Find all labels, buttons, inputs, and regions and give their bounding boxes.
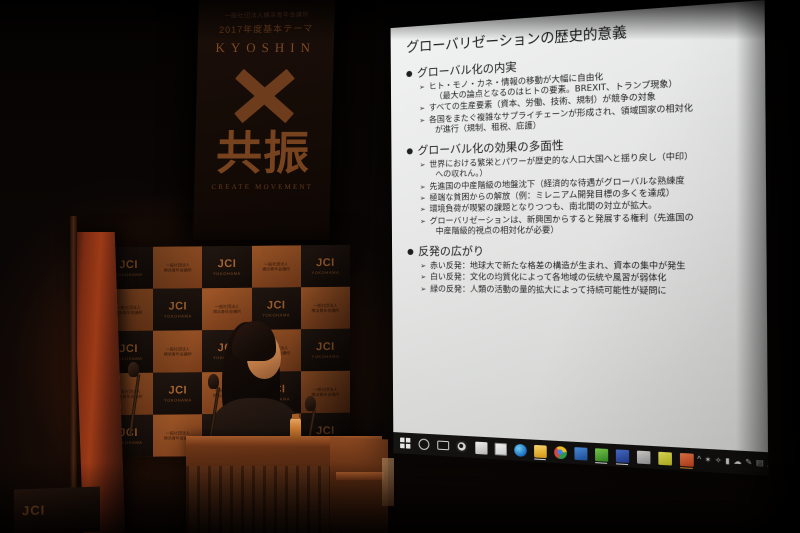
volume-icon[interactable]: ✧ — [715, 457, 722, 465]
windows-start-icon — [400, 437, 411, 449]
network-icon[interactable]: ✶ — [705, 456, 712, 464]
projection-screen: グローバリゼーションの歴史的意義 グローバル化の内実➢ヒト・モノ・カネ・情報の移… — [391, 0, 769, 476]
edge-icon — [514, 443, 527, 456]
jci-organization-text: 横浜青年会議所 — [164, 351, 192, 357]
chrome-icon — [554, 445, 567, 458]
backdrop-cell: JCIYOKOHAMA — [153, 288, 202, 331]
slide-sub-bullet-text: グローバリゼーションは、新興国からすると発展する権利（先進国の中産階級的視点の相… — [430, 211, 752, 237]
jci-logo-text: JCI — [218, 258, 237, 270]
arrow-bullet-icon: ➢ — [419, 82, 425, 93]
jci-organization-text: 横浜青年会議所 — [311, 308, 339, 314]
jci-logo-subtitle: YOKOHAMA — [262, 312, 290, 317]
taskbar-microsoft-store[interactable] — [471, 437, 490, 458]
system-tray[interactable]: ^ ✶ ✧ ▮ ☁ ✎ ▤ A 19:35 2017/09/10 — [697, 454, 768, 473]
store-bag-icon — [475, 441, 487, 454]
arrow-bullet-icon: ➢ — [420, 272, 426, 282]
jci-logo-subtitle: YOKOHAMA — [115, 272, 143, 277]
taskbar-green-app[interactable] — [591, 444, 612, 465]
slide-body: グローバル化の内実➢ヒト・モノ・カネ・情報の移動が大幅に自由化（最大の論点となる… — [406, 45, 752, 297]
taskbar-task-view[interactable] — [433, 435, 452, 455]
bullet-dot-icon — [408, 248, 414, 254]
arrow-bullet-icon: ➢ — [420, 160, 426, 170]
water-bottle — [290, 418, 301, 440]
water-bottle-cap — [292, 414, 299, 419]
slide-section: グローバル化の効果の多面性➢世界における繁栄とパワーが歴史的な人口大国へと揺り戻… — [407, 131, 752, 237]
app-tile-icon — [574, 447, 587, 460]
taskbar-microsoft-edge[interactable] — [510, 439, 530, 460]
slide-sub-bullet: ➢緑の反発：人類の活動の量的拡大によって持続可能性が疑問に — [420, 284, 752, 298]
slide-sub-bullet: ➢グローバリゼーションは、新興国からすると発展する権利（先進国の中産階級的視点の… — [420, 211, 752, 237]
backdrop-cell: JCIYOKOHAMA — [301, 245, 350, 288]
task-view-icon — [437, 440, 449, 450]
taskbar-powerpoint[interactable] — [675, 448, 697, 470]
taskbar-gray-app[interactable] — [632, 446, 653, 468]
podium-plaque — [382, 458, 394, 506]
slide-sub-bullet: ➢赤い反発：地球大で新たな格差の構造が生まれ、資本の集中が発生 — [420, 260, 752, 272]
bullet-dot-icon — [406, 70, 412, 76]
backdrop-cell: 一般社団法人横浜青年会議所 — [153, 246, 202, 289]
arrow-bullet-icon: ➢ — [420, 284, 426, 294]
slide-section-heading-text: グローバル化の内実 — [417, 60, 517, 80]
slide-section: グローバル化の内実➢ヒト・モノ・カネ・情報の移動が大幅に自由化（最大の論点となる… — [406, 45, 751, 137]
slide-text-line: 中産階級的視点の相対化が必要） — [430, 223, 752, 237]
slide-section-heading-text: グローバル化の効果の多面性 — [418, 138, 564, 157]
bullet-dot-icon — [407, 148, 413, 154]
banner-organization-text: 一般社団法人横浜青年会議所 — [224, 9, 309, 19]
jci-logo-text: JCI — [168, 300, 187, 312]
taskbar-google-chrome[interactable] — [550, 442, 570, 463]
windows-desktop: グローバリゼーションの歴史的意義 グローバル化の内実➢ヒト・モノ・カネ・情報の移… — [391, 0, 769, 476]
document-icon — [494, 442, 506, 455]
folder-icon — [534, 444, 547, 457]
taskbar-lime-app[interactable] — [654, 447, 676, 469]
jci-logo-subtitle: YOKOHAMA — [164, 397, 192, 402]
slide-text-line: 緑の反発：人類の活動の量的拡大によって持続可能性が疑問に — [430, 284, 752, 298]
taskbar-file-explorer[interactable] — [530, 440, 550, 461]
powerpoint-slide: グローバリゼーションの歴史的意義 グローバル化の内実➢ヒト・モノ・カネ・情報の移… — [391, 0, 768, 452]
taskbar-cortana-search[interactable] — [415, 434, 434, 454]
pen-icon[interactable]: ✎ — [745, 459, 752, 467]
stage-banner-kyoshin: 一般社団法人横浜青年会議所 2017年度基本テーマ KYOSHIN 共振 CRE… — [193, 0, 335, 240]
jci-logo-text: JCI — [316, 257, 335, 269]
powerpoint-icon — [679, 452, 693, 466]
backdrop-cell: JCIYOKOHAMA — [301, 329, 350, 372]
jci-logo-text: JCI — [119, 343, 138, 355]
jci-organization-text: 横浜青年会議所 — [262, 266, 290, 272]
podium-side-panel — [330, 436, 388, 533]
banner-tagline: CREATE MOVEMENT — [211, 183, 313, 191]
cortana-circle-icon — [419, 438, 430, 450]
app-tile-icon — [636, 450, 650, 464]
backdrop-cell: 一般社団法人横浜青年会議所 — [301, 287, 350, 330]
slide-sub-bullet: ➢白い反発：文化の均質化によって各地域の伝統や風習が弱体化 — [420, 272, 752, 285]
banner-x-cross-icon — [231, 66, 298, 126]
arrow-bullet-icon: ➢ — [419, 104, 425, 115]
podium-shelf — [336, 472, 384, 480]
taskbar-settings[interactable] — [452, 436, 471, 457]
taskbar-blue-app[interactable] — [570, 443, 591, 464]
show-hidden-icons-chevron-icon[interactable]: ^ — [697, 456, 701, 464]
cloud-icon[interactable]: ☁ — [733, 458, 741, 466]
slide-sub-bullet-text: 赤い反発：地球大で新たな格差の構造が生まれ、資本の集中が発生 — [430, 260, 752, 272]
banner-kanji-title: 共振 — [216, 130, 311, 176]
jci-organization-text: 横浜青年会議所 — [115, 310, 143, 316]
jci-logo-text: JCI — [168, 384, 187, 396]
app-tile-icon — [658, 451, 672, 465]
jci-organization-text: 横浜青年会議所 — [213, 309, 241, 315]
conference-hall-scene: 一般社団法人横浜青年会議所 2017年度基本テーマ KYOSHIN 共振 CRE… — [0, 0, 800, 533]
jci-logo-text: JCI — [119, 259, 138, 271]
battery-icon[interactable]: ▮ — [725, 458, 730, 466]
ime-mode-indicator[interactable]: A — [767, 460, 768, 469]
ime-panel-icon[interactable]: ▤ — [756, 459, 764, 467]
jci-organization-text: 横浜青年会議所 — [311, 392, 339, 398]
jci-organization-text: 横浜青年会議所 — [164, 267, 192, 273]
foreground-jci-logo-text: JCI — [22, 502, 45, 518]
jci-logo-text: JCI — [267, 299, 286, 311]
slide-sub-bullet-text: 緑の反発：人類の活動の量的拡大によって持続可能性が疑問に — [430, 284, 752, 298]
taskbar-document-app[interactable] — [490, 438, 510, 459]
jci-logo-subtitle: YOKOHAMA — [311, 270, 339, 275]
jci-logo-subtitle: YOKOHAMA — [311, 354, 339, 359]
backdrop-cell: JCIYOKOHAMA — [202, 246, 251, 289]
banner-romaji-title: KYOSHIN — [215, 40, 316, 56]
banner-theme-label: 2017年度基本テーマ — [219, 21, 313, 36]
jci-logo-subtitle: YOKOHAMA — [164, 313, 192, 318]
backdrop-cell: JCIYOKOHAMA — [153, 372, 202, 415]
backdrop-cell: 一般社団法人横浜青年会議所 — [153, 330, 202, 373]
arrow-bullet-icon: ➢ — [420, 261, 426, 271]
slide-sub-bullet-text: 白い反発：文化の均質化によって各地域の伝統や風習が弱体化 — [430, 272, 752, 284]
slide-section: 反発の広がり➢赤い反発：地球大で新たな格差の構造が生まれ、資本の集中が発生➢白い… — [407, 242, 752, 297]
slide-section-heading: 反発の広がり — [407, 242, 752, 257]
taskbar-navy-app[interactable] — [611, 445, 632, 467]
app-tile-icon — [594, 448, 607, 462]
arrow-bullet-icon: ➢ — [420, 216, 426, 226]
flag-pole — [70, 216, 77, 533]
slide-text-line: 白い反発：文化の均質化によって各地域の伝統や風習が弱体化 — [430, 272, 752, 284]
arrow-bullet-icon: ➢ — [419, 115, 425, 125]
arrow-bullet-icon: ➢ — [420, 205, 426, 215]
arrow-bullet-icon: ➢ — [420, 193, 426, 203]
jci-logo-text: JCI — [316, 341, 335, 353]
slide-text-line: 赤い反発：地球大で新たな格差の構造が生まれ、資本の集中が発生 — [430, 260, 752, 272]
foreground-jci-block: JCI — [14, 486, 100, 533]
app-tile-icon — [615, 449, 628, 463]
taskbar-start-button[interactable] — [396, 433, 415, 453]
slide-section-heading-text: 反発の広がり — [418, 244, 484, 258]
backdrop-cell: 一般社団法人横浜青年会議所 — [252, 245, 301, 288]
jci-logo-subtitle: YOKOHAMA — [213, 271, 241, 276]
gear-icon — [456, 441, 467, 453]
arrow-bullet-icon: ➢ — [420, 182, 426, 192]
